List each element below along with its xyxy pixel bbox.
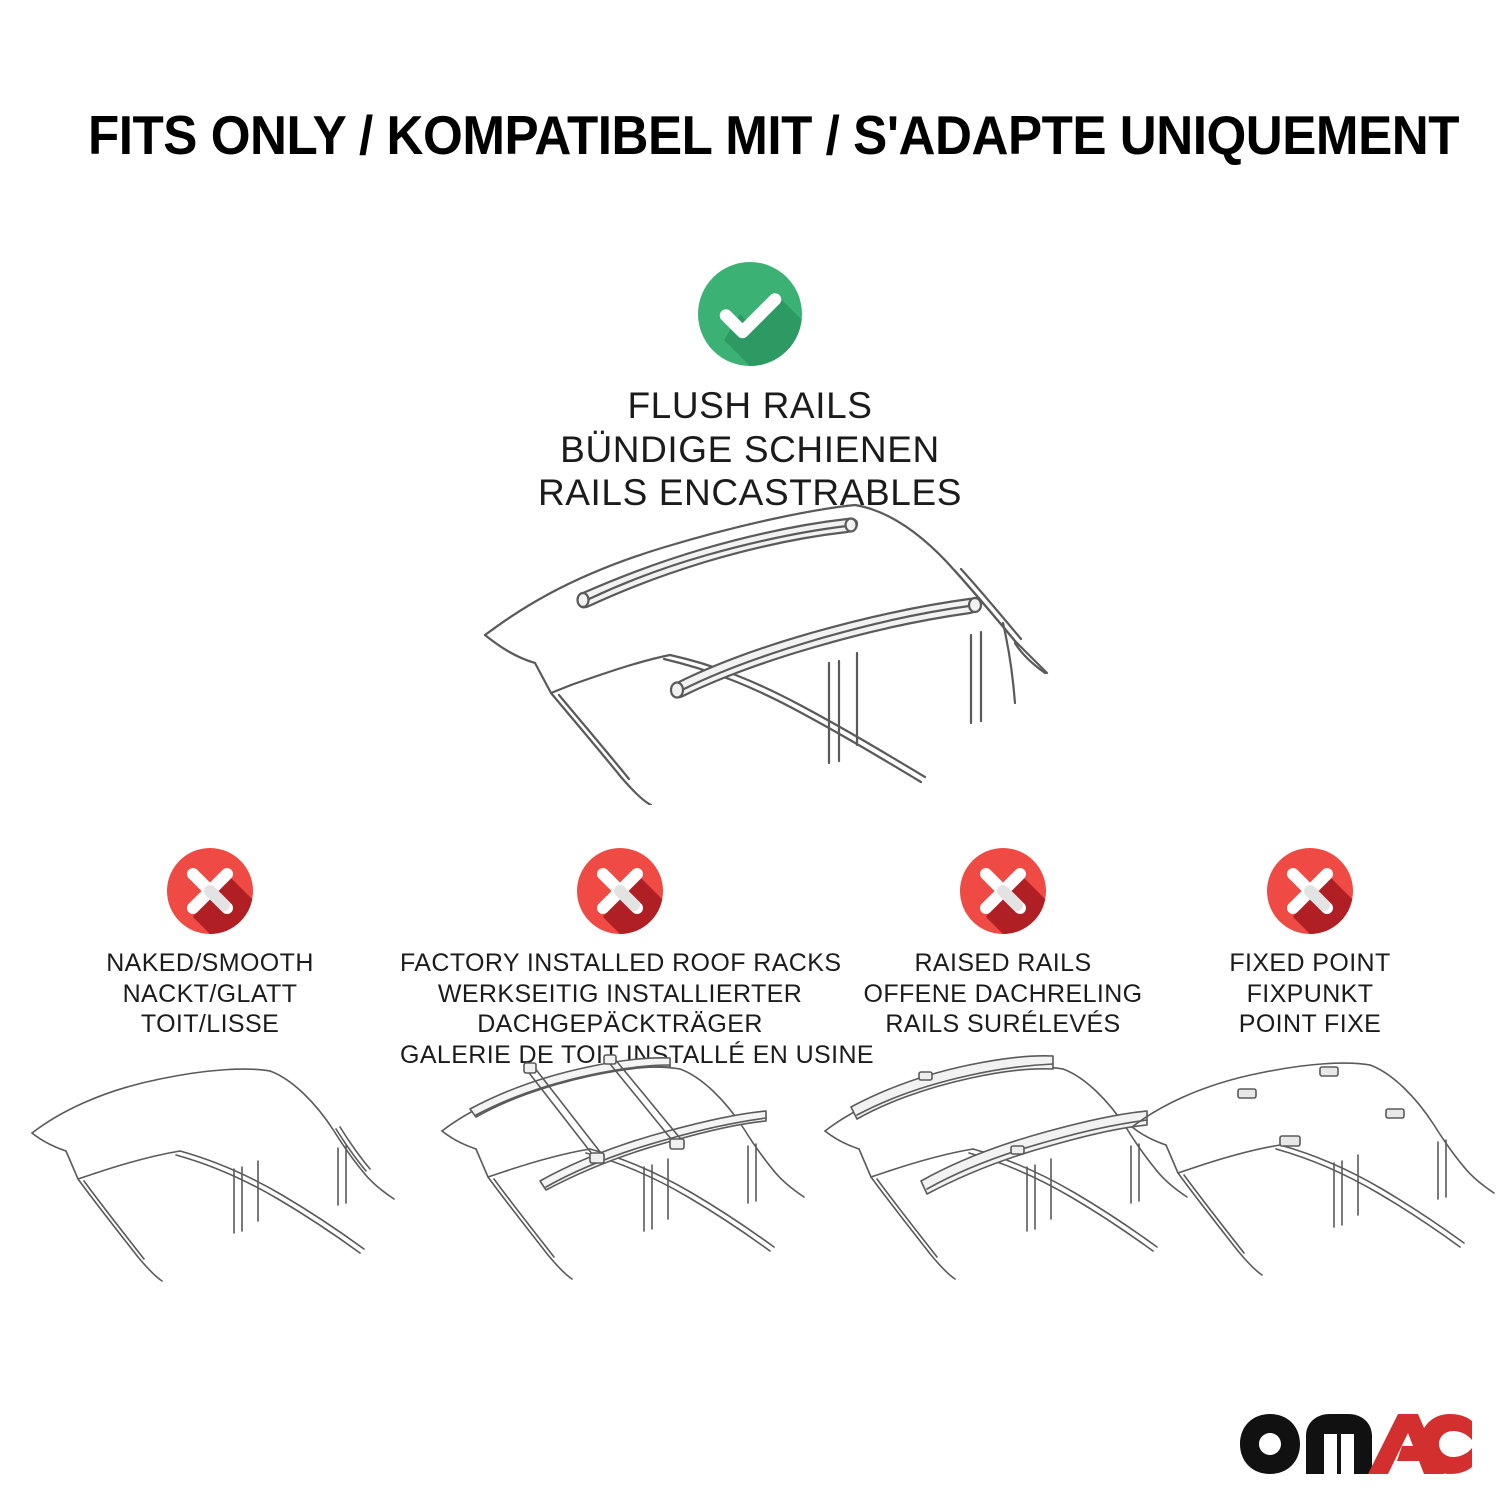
incompatible-labels: RAISED RAILS OFFENE DACHRELING RAILS SUR… [838,948,1168,1040]
page-header: FITS ONLY / KOMPATIBEL MIT / S'ADAPTE UN… [88,100,1418,170]
compatible-section: FLUSH RAILS BÜNDIGE SCHIENEN RAILS ENCAS… [0,262,1500,515]
incompatible-section: NAKED/SMOOTH NACKT/GLATT TOIT/LISSE [0,848,1500,1328]
incompatible-labels: FIXED POINT FIXPUNKT POINT FIXE [1175,948,1445,1040]
cross-circle-icon [960,848,1046,934]
compatible-label-en: FLUSH RAILS [0,384,1500,428]
label-de: OFFENE DACHRELING [838,979,1168,1010]
omac-logo [1238,1412,1474,1478]
car-roof-naked-smooth-illustration [20,1053,400,1288]
car-roof-factory-racks-illustration [430,1053,810,1288]
incompatible-item-factory-racks: FACTORY INSTALLED ROOF RACKS WERKSEITIG … [400,848,840,1070]
incompatible-item-fixed-point: FIXED POINT FIXPUNKT POINT FIXE [1175,848,1445,1040]
check-circle-icon [698,262,802,366]
label-fr: TOIT/LISSE [60,1009,360,1040]
compatible-label-de: BÜNDIGE SCHIENEN [0,428,1500,472]
incompatible-labels: FACTORY INSTALLED ROOF RACKS WERKSEITIG … [400,948,840,1070]
cross-circle-icon [1267,848,1353,934]
label-de-2: DACHGEPÄCKTRÄGER [400,1009,840,1040]
incompatible-item-naked-smooth: NAKED/SMOOTH NACKT/GLATT TOIT/LISSE [60,848,360,1040]
incompatible-item-raised-rails: RAISED RAILS OFFENE DACHRELING RAILS SUR… [838,848,1168,1040]
label-fr: POINT FIXE [1175,1009,1445,1040]
label-en: RAISED RAILS [838,948,1168,979]
car-roof-fixed-point-illustration [1120,1053,1500,1288]
label-de: FIXPUNKT [1175,979,1445,1010]
label-en: NAKED/SMOOTH [60,948,360,979]
label-fr: RAILS SURÉLEVÉS [838,1009,1168,1040]
page-title: FITS ONLY / KOMPATIBEL MIT / S'ADAPTE UN… [88,108,1459,163]
label-de-1: WERKSEITIG INSTALLIERTER [400,979,840,1010]
label-en: FIXED POINT [1175,948,1445,979]
car-roof-flush-rails-illustration [455,495,1055,805]
label-de: NACKT/GLATT [60,979,360,1010]
incompatible-labels: NAKED/SMOOTH NACKT/GLATT TOIT/LISSE [60,948,360,1040]
cross-circle-icon [577,848,663,934]
cross-circle-icon [167,848,253,934]
label-en: FACTORY INSTALLED ROOF RACKS [400,948,840,979]
